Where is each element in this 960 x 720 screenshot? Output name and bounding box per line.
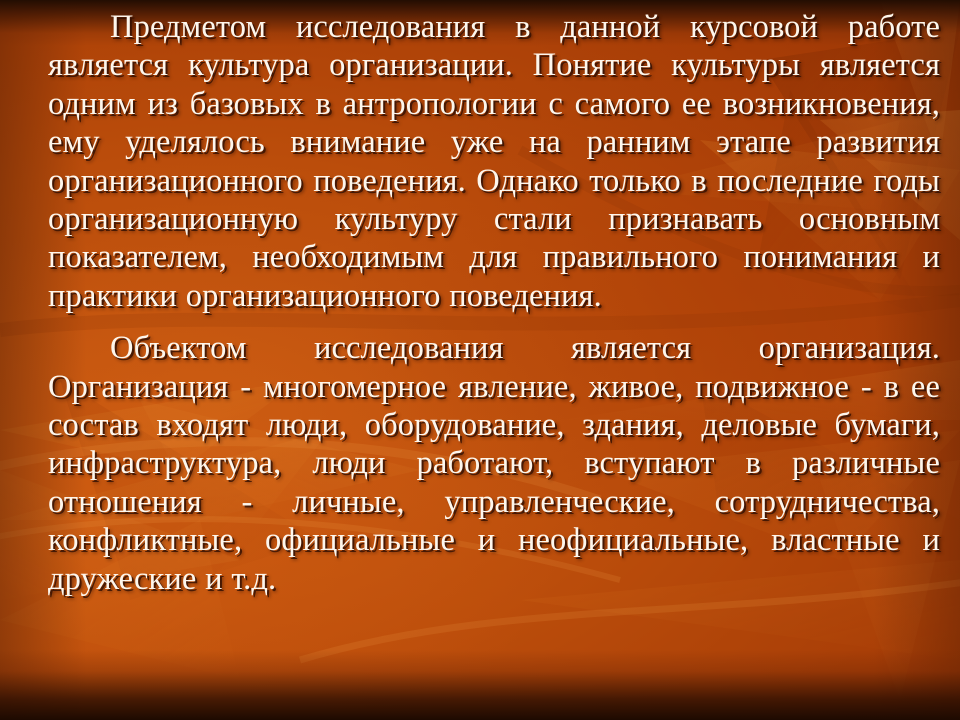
paragraph-object-of-research: Объектом исследования является организац… <box>48 329 940 598</box>
presentation-slide: Предметом исследования в данной курсовой… <box>0 0 960 720</box>
slide-text-body: Предметом исследования в данной курсовой… <box>48 8 940 598</box>
slide-bottom-dark-band <box>0 650 960 720</box>
paragraph-subject-of-research: Предметом исследования в данной курсовой… <box>48 8 940 315</box>
